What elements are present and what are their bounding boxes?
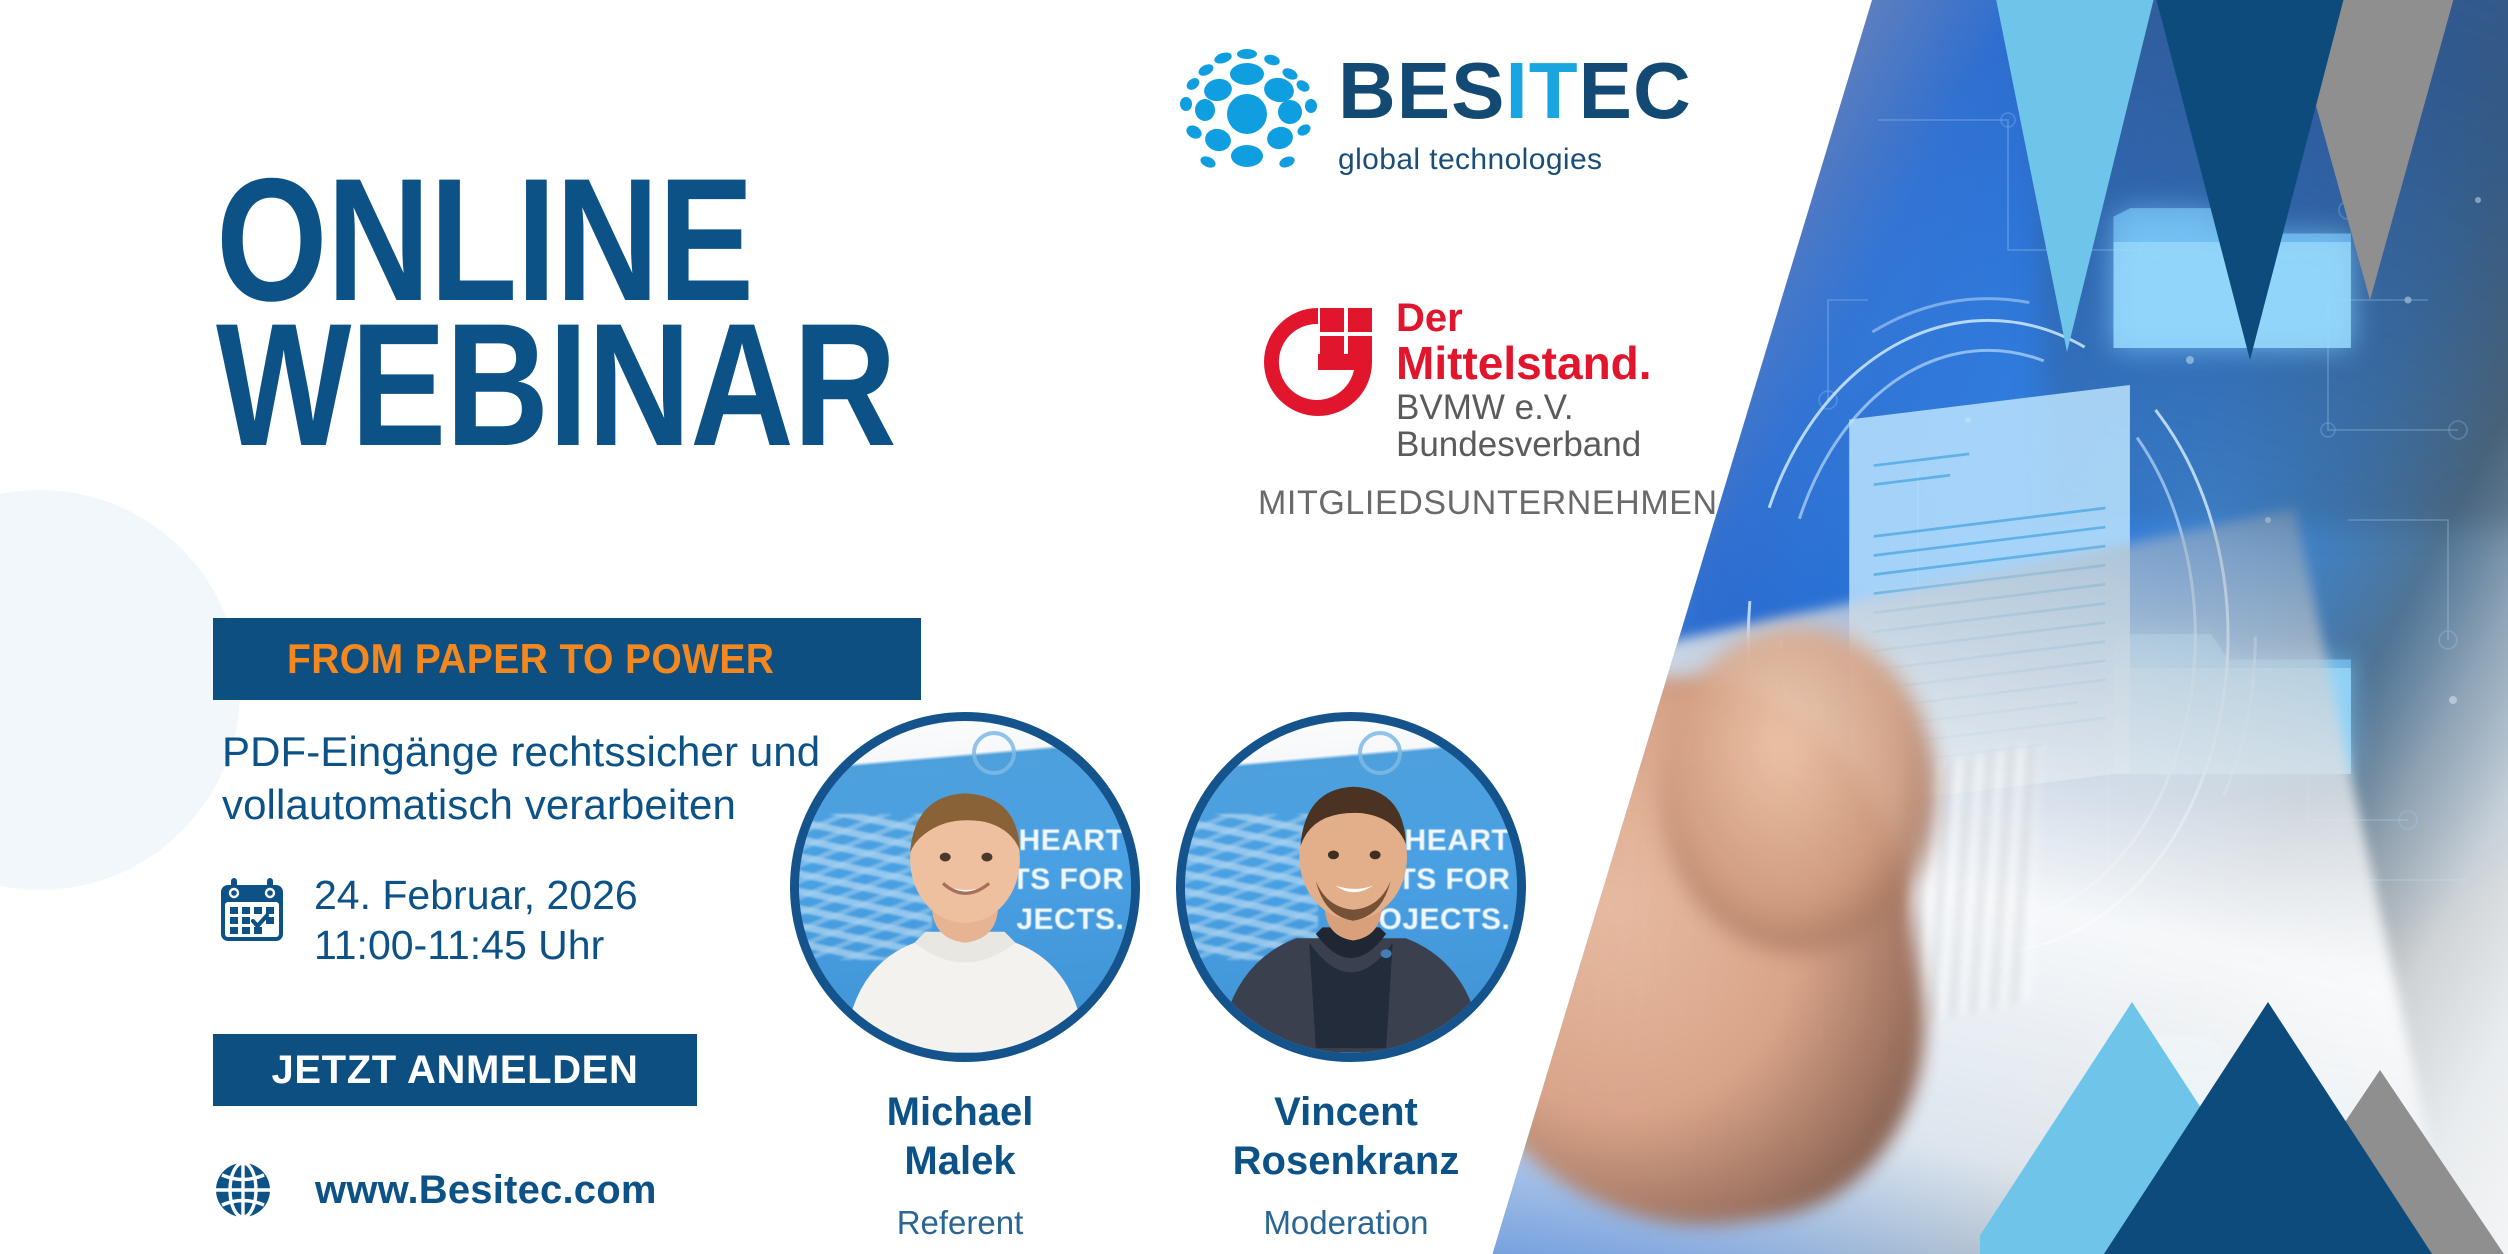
avatar: UR HEART EATS FOR OJECTS. — [1176, 712, 1526, 1062]
besitec-tagline: global technologies — [1338, 143, 1692, 177]
page-title: ONLINE WEBINAR — [216, 168, 896, 459]
speaker-role: Moderation — [1176, 1204, 1516, 1242]
website-link[interactable]: www.Besitec.com — [213, 1160, 657, 1220]
besitec-it: IT — [1506, 46, 1579, 135]
globe-icon — [213, 1160, 273, 1220]
website-url: www.Besitec.com — [315, 1168, 657, 1213]
top-right-triangles — [1855, 0, 2508, 360]
bvmw-line-1: Der — [1396, 298, 1652, 338]
besitec-ec: EC — [1579, 46, 1692, 135]
speaker-name: Michael Malek — [790, 1088, 1130, 1186]
register-button[interactable]: JETZT ANMELDEN — [213, 1034, 697, 1106]
bvmw-logo: Der Mittelstand. BVMW e.V. Bundesverband… — [1258, 298, 1718, 523]
besitec-wordmark: BESITEC global technologies — [1338, 51, 1692, 177]
register-button-label: JETZT ANMELDEN — [272, 1048, 639, 1093]
bvmw-line-4: Bundesverband — [1396, 427, 1652, 462]
speaker-card: UR HEART EATS FOR OJECTS. Vincent Rosenk… — [1176, 712, 1516, 1242]
calendar-check-icon — [216, 876, 288, 948]
speaker-role: Referent — [790, 1204, 1130, 1242]
besitec-bes: BES — [1338, 46, 1506, 135]
besitec-logo: BESITEC global technologies — [1172, 44, 1692, 184]
bottom-right-triangles — [1980, 930, 2508, 1254]
bvmw-member-label: MITGLIEDSUNTERNEHMEN — [1258, 484, 1718, 523]
dotted-sphere-icon — [1172, 44, 1322, 184]
avatar: UR HEART EATS FOR JECTS. — [790, 712, 1140, 1062]
bvmw-line-2: Mittelstand. — [1396, 340, 1652, 386]
speaker-portrait — [799, 767, 1131, 1053]
speaker-name: Vincent Rosenkranz — [1176, 1088, 1516, 1186]
webinar-banner: ONLINE WEBINAR FROM PAPER TO POWER PDF-E… — [0, 0, 2508, 1254]
speaker-portrait — [1185, 767, 1517, 1053]
tagline-band: FROM PAPER TO POWER — [213, 618, 921, 700]
subtitle: PDF-Eingänge rechtssicher und vollautoma… — [222, 726, 820, 832]
headline-line-2: WEBINAR — [216, 313, 896, 458]
besitec-name: BESITEC — [1338, 51, 1692, 131]
bvmw-line-3: BVMW e.V. — [1396, 390, 1652, 425]
decorative-circle — [0, 490, 240, 890]
event-datetime: 24. Februar, 2026 11:00-11:45 Uhr — [216, 870, 638, 970]
tagline-text: FROM PAPER TO POWER — [287, 635, 774, 683]
event-datetime-text: 24. Februar, 2026 11:00-11:45 Uhr — [314, 870, 638, 970]
bvmw-g-icon — [1258, 302, 1378, 422]
hand-thumb — [1660, 627, 1936, 953]
speaker-card: UR HEART EATS FOR JECTS. Michael Malek R… — [790, 712, 1130, 1242]
